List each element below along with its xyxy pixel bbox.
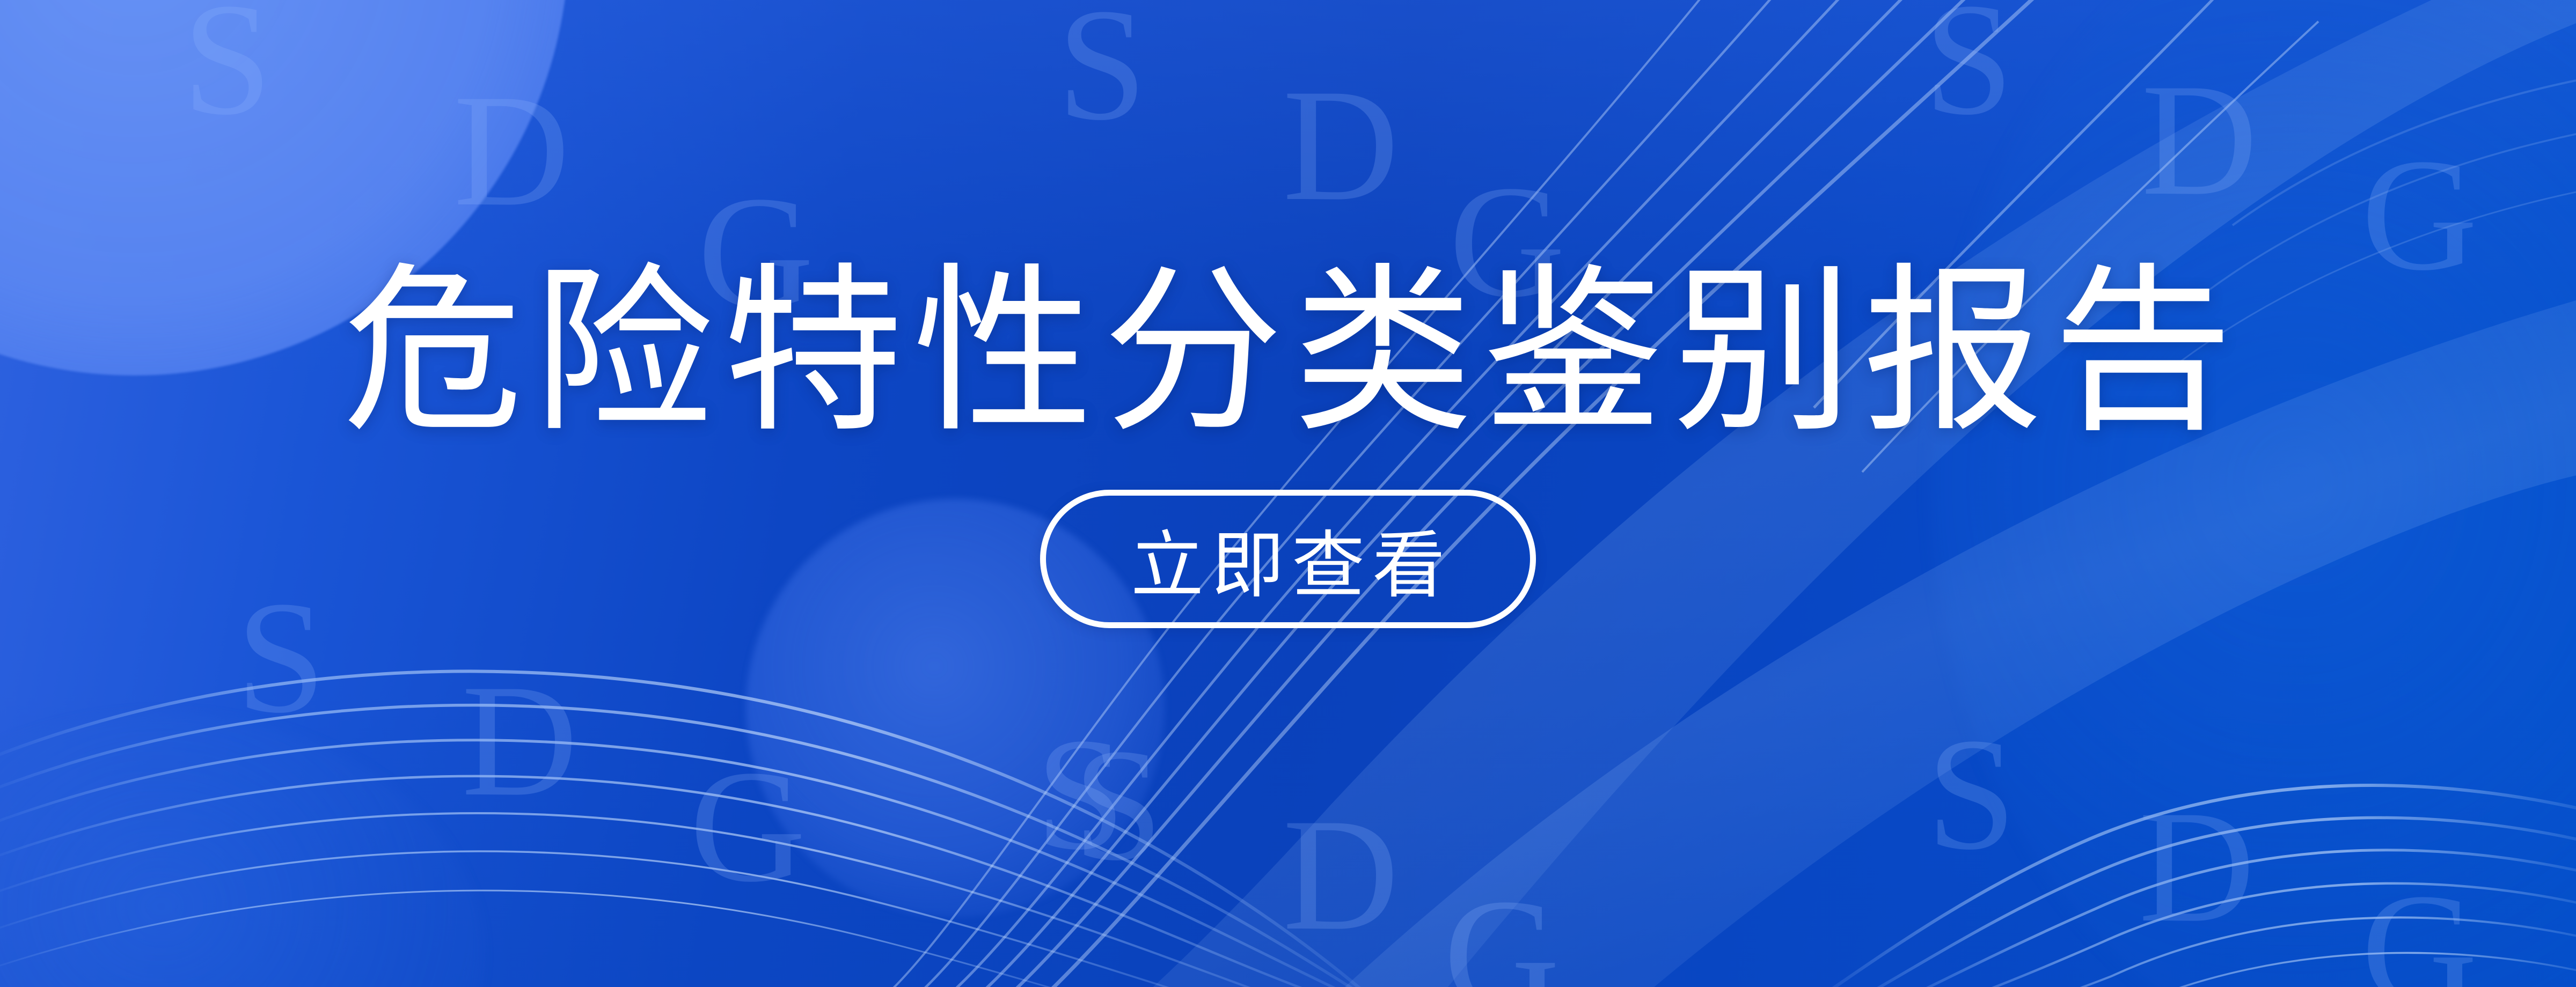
promo-banner: SDGSDGSDGSDGSSDGSDG 危险特性分类鉴别报告 立即查看 (0, 0, 2576, 987)
banner-content: 危险特性分类鉴别报告 立即查看 (0, 0, 2576, 987)
page-title: 危险特性分类鉴别报告 (333, 259, 2243, 446)
view-now-button[interactable]: 立即查看 (1040, 490, 1536, 628)
